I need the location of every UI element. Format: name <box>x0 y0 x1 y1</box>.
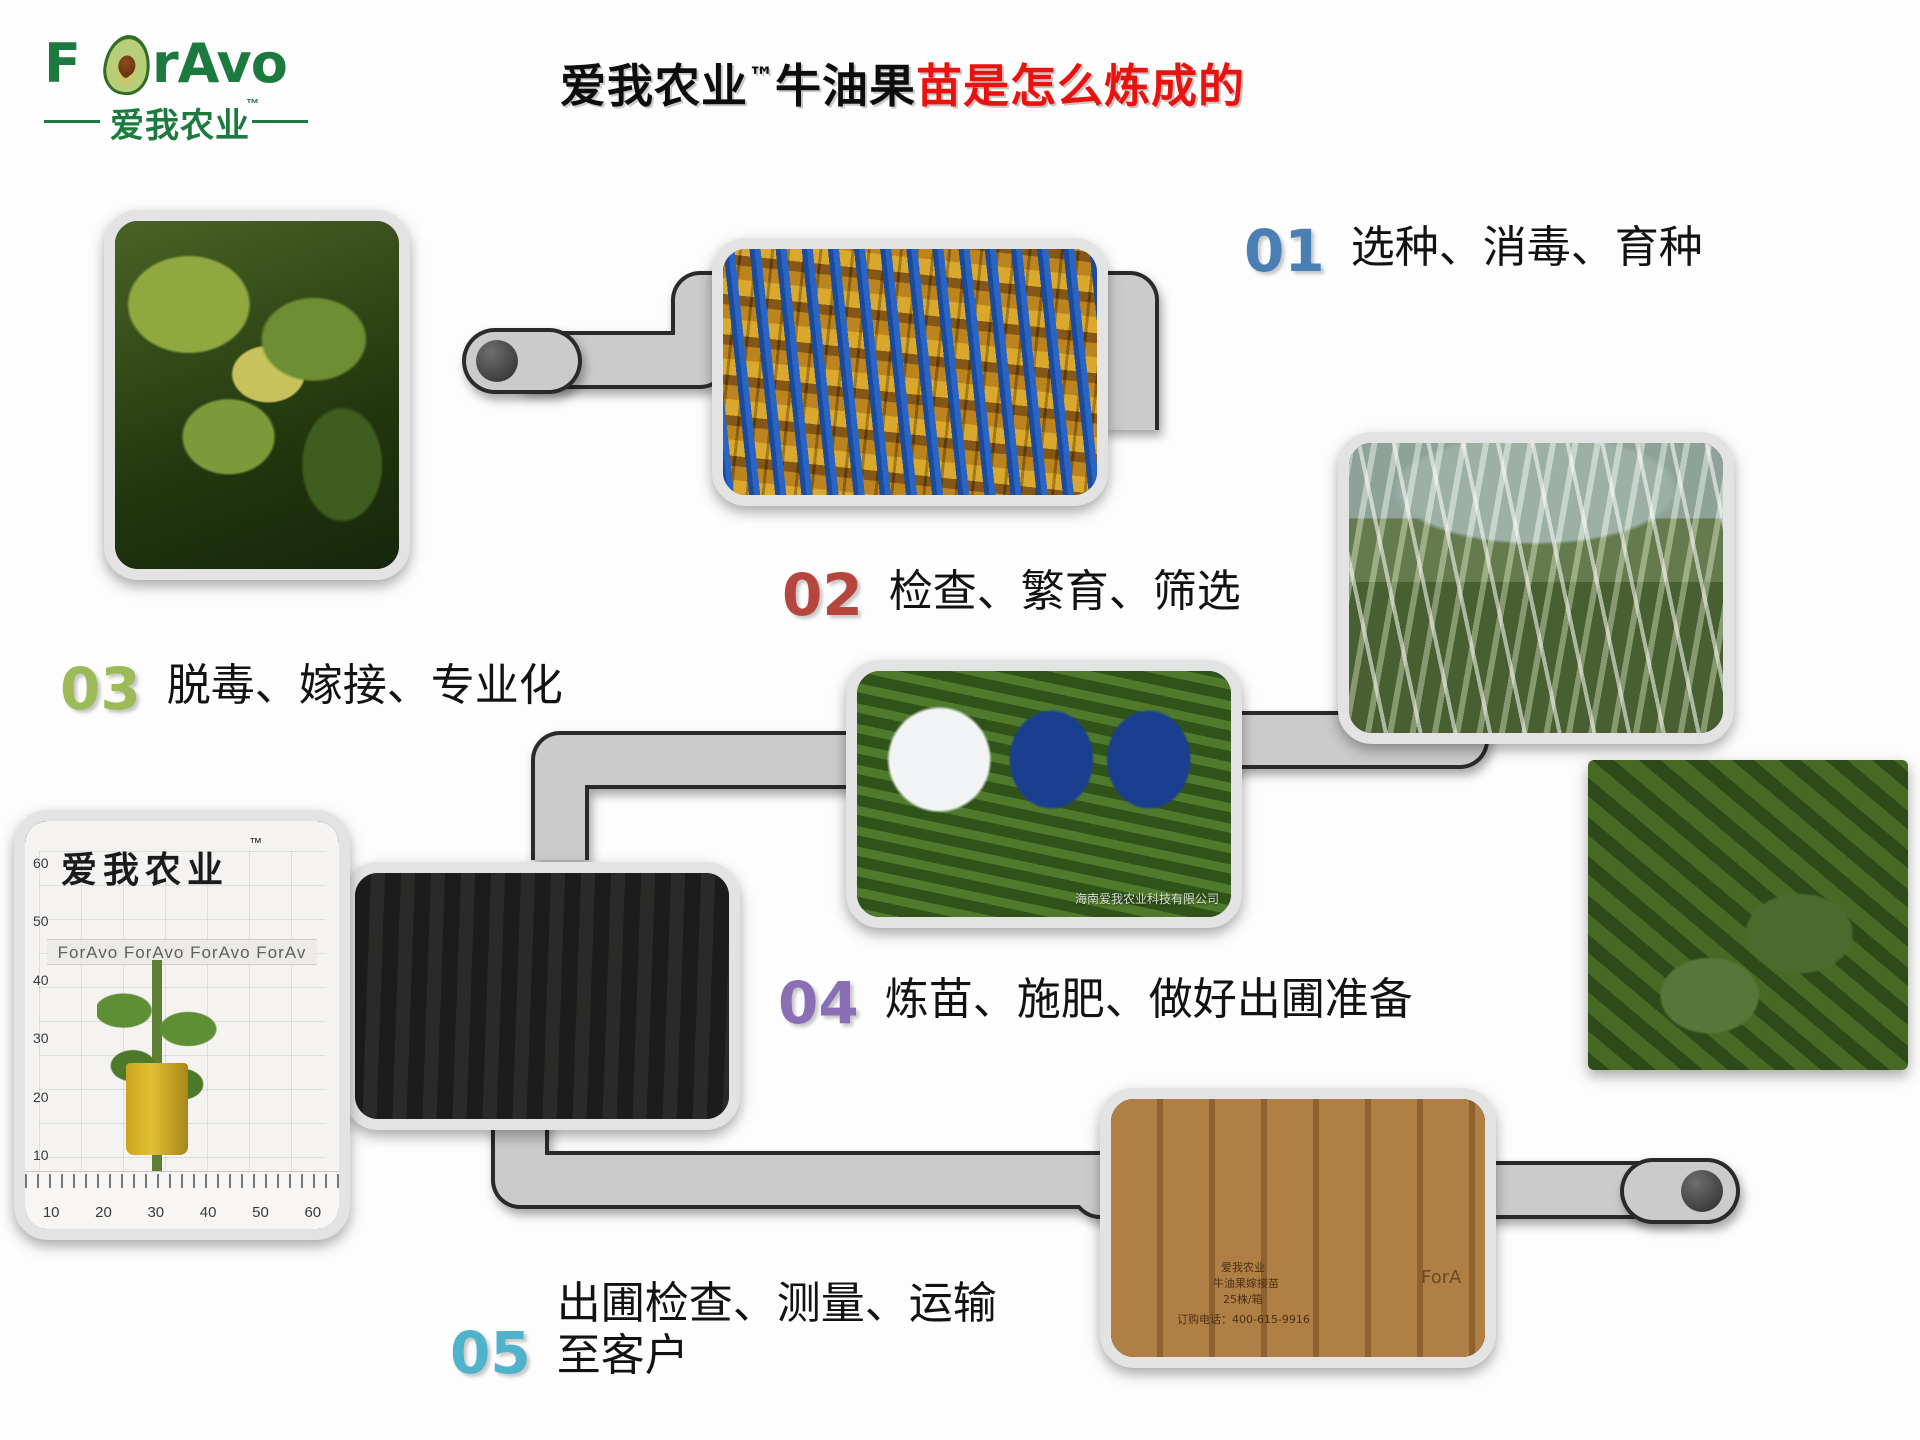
v-tick: 20 <box>33 1089 59 1105</box>
step-04-label: 炼苗、施肥、做好出圃准备 <box>885 974 1413 1026</box>
step-03: 03 脱毒、嫁接、专业化 <box>60 660 563 718</box>
h-tick: 50 <box>252 1204 269 1221</box>
step-05-number: 05 <box>450 1324 531 1382</box>
h-tick: 40 <box>200 1204 217 1221</box>
v-tick: 30 <box>33 1030 59 1046</box>
photo-measuring-board-seedling[interactable]: 爱我农业 ™ ForAvo ForAvo ForAvo ForAv 60 50 … <box>14 810 350 1240</box>
h-tick: 30 <box>147 1204 164 1221</box>
h-tick: 60 <box>304 1204 321 1221</box>
photo-avocado-flower-branch[interactable] <box>104 210 410 580</box>
step-05-label: 出圃检查、测量、运输 至客户 <box>557 1278 997 1382</box>
title-part-product: 牛油果 <box>775 59 916 113</box>
infographic-page: F rAvo 爱我农业 ™ 爱我农业™牛油果苗是怎么炼成的 海南爱我农业科技有限… <box>0 0 1920 1440</box>
step-02-label: 检查、繁育、筛选 <box>889 566 1241 618</box>
h-tick: 10 <box>43 1204 60 1221</box>
photo-potted-seedling-rows[interactable] <box>344 862 740 1130</box>
photo-staff-inspecting-seedlings[interactable]: 海南爱我农业科技有限公司 <box>846 660 1242 928</box>
logo-chinese-name: 爱我农业 <box>110 98 250 147</box>
avocado-icon <box>100 32 154 98</box>
board-horizontal-ticks: 10 20 30 40 50 60 <box>25 1201 339 1223</box>
step-04-number: 04 <box>778 974 859 1032</box>
v-tick: 40 <box>33 972 59 988</box>
logo-wordmark: F rAvo <box>44 34 324 96</box>
v-tick: 50 <box>33 913 59 929</box>
h-tick: 20 <box>95 1204 112 1221</box>
step-04: 04 炼苗、施肥、做好出圃准备 <box>778 974 1413 1032</box>
logo-letter-f: F <box>44 34 80 94</box>
step-01-number: 01 <box>1244 222 1325 280</box>
step-03-label: 脱毒、嫁接、专业化 <box>167 660 563 712</box>
photo-cartons-of-seedlings[interactable]: 爱我农业 牛油果嫁接苗 25株/箱 订购电话：400-615-9916 ForA <box>1100 1088 1496 1368</box>
carton-side-label: ForA <box>1421 1267 1461 1288</box>
step-05: 05 出圃检查、测量、运输 至客户 <box>450 1278 997 1382</box>
board-brand-text: 爱我农业 <box>61 841 229 893</box>
step-05-label-line1: 出圃检查、测量、运输 <box>557 1278 997 1329</box>
step-02-number: 02 <box>782 566 863 624</box>
step-01: 01 选种、消毒、育种 <box>1244 222 1703 280</box>
carton-qty-label: 25株/箱 <box>1223 1291 1263 1307</box>
photo-watermark: 海南爱我农业科技有限公司 <box>1075 890 1219 907</box>
v-tick: 60 <box>33 855 59 871</box>
ribbon-start-cap <box>462 328 582 394</box>
board-vertical-ticks: 60 50 40 30 20 10 <box>33 855 59 1163</box>
photo-greenhouse-grafting-bags[interactable] <box>1338 432 1734 744</box>
yellow-pot <box>126 1063 188 1155</box>
logo-subtitle: 爱我农业 ™ <box>44 98 324 140</box>
logo-trademark-symbol: ™ <box>246 96 259 111</box>
title-trademark-symbol: ™ <box>748 63 775 93</box>
carton-phone-label: 订购电话：400-615-9916 <box>1177 1311 1310 1327</box>
step-01-label: 选种、消毒、育种 <box>1351 222 1703 274</box>
logo-rule-right <box>252 120 308 123</box>
title-part-brand: 爱我农业 <box>560 59 748 113</box>
page-title: 爱我农业™牛油果苗是怎么炼成的 <box>560 50 1560 116</box>
carton-product-label: 牛油果嫁接苗 <box>1213 1275 1279 1291</box>
logo-rule-left <box>44 120 100 123</box>
title-part-highlight: 苗是怎么炼成的 <box>916 59 1245 113</box>
logo-letters-ravo: rAvo <box>152 34 287 94</box>
brand-logo: F rAvo 爱我农业 ™ <box>44 34 324 144</box>
board-trademark-symbol: ™ <box>249 835 262 850</box>
step-02: 02 检查、繁育、筛选 <box>782 566 1241 624</box>
ribbon-end-cap <box>1620 1158 1740 1224</box>
v-tick: 10 <box>33 1147 59 1163</box>
step-03-number: 03 <box>60 660 141 718</box>
photo-seed-germination-trays[interactable] <box>712 238 1108 506</box>
step-05-label-line2: 至客户 <box>557 1330 997 1382</box>
carton-brand-label: 爱我农业 <box>1221 1259 1265 1275</box>
measuring-board: 爱我农业 ™ ForAvo ForAvo ForAvo ForAv 60 50 … <box>25 821 339 1229</box>
photo-avocado-fruits-on-tree[interactable] <box>1588 760 1908 1070</box>
